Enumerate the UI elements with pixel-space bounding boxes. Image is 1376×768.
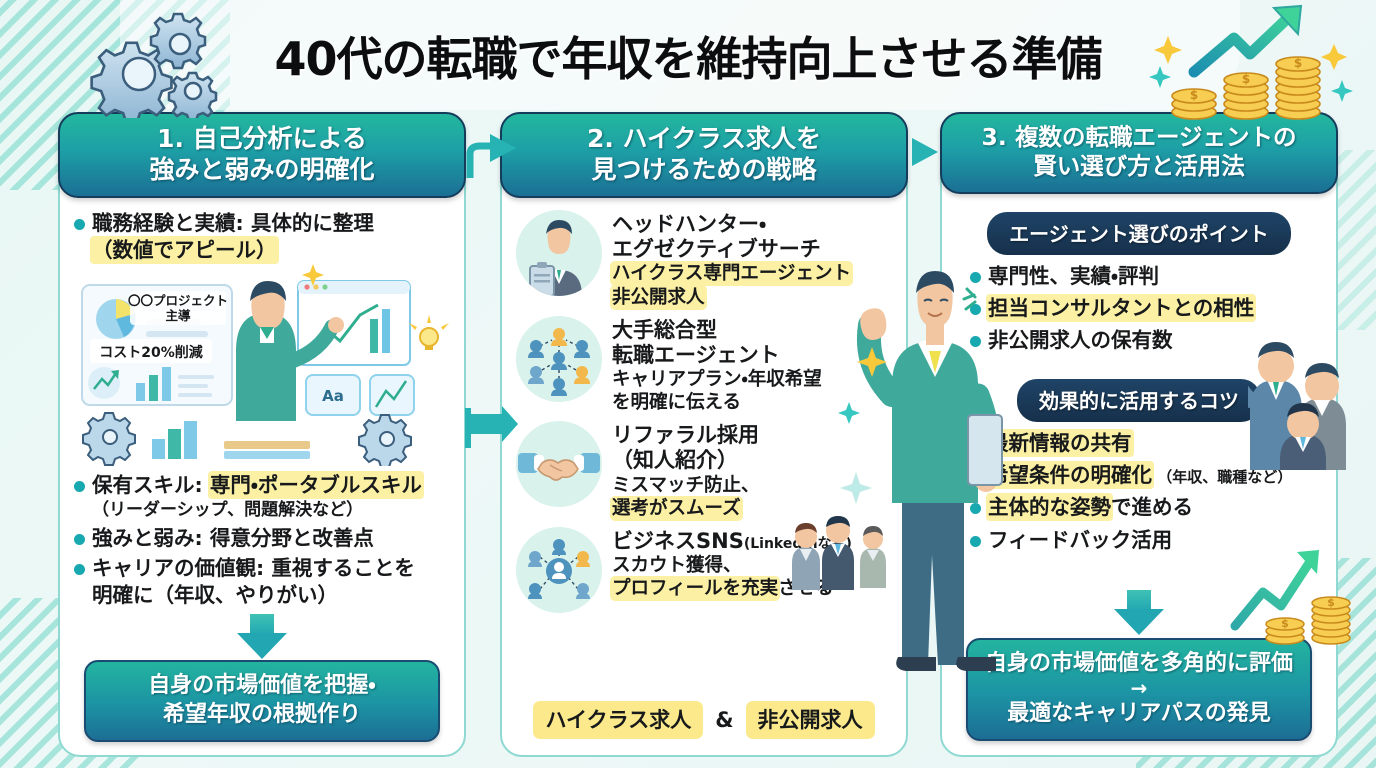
list-item: キャリアの価値観: 重視することを 明確に（年収、やりがい） — [74, 555, 450, 609]
network-people-icon — [516, 316, 602, 402]
column-2-header-line-1: 2. ハイクラス求人を — [508, 123, 900, 154]
s2-bullet-2: 希望条件の明確化 — [988, 463, 1152, 487]
item-3-sub-line-1: ミスマッチ防止、 — [612, 474, 759, 497]
item-2-title-line-2: 転職エージェント — [612, 343, 822, 368]
item-1-tag-1: ハイクラス専門エージェント — [612, 263, 851, 284]
column-3-header-line-2: 賢い選び方と活用法 — [948, 152, 1330, 181]
column-1-body: 職務経験と実績: 具体的に整理 （数値でアピール） — [60, 198, 464, 756]
item-1-title-line-2: エグゼクティブサーチ — [612, 237, 851, 262]
section-pill-agent-points: エージェント選びのポイント — [987, 212, 1291, 255]
bullet-dot-icon — [970, 304, 981, 315]
s1-bullet-1: 専門性、実績・評判 — [988, 263, 1159, 290]
item-4-sub-highlight: プロフィールを充実 — [612, 578, 778, 599]
svg-text:主導: 主導 — [165, 308, 191, 323]
columns-container: 1. 自己分析による 強みと弱みの明確化 職務経験と実績: 具体的に整理 （数値… — [0, 112, 1376, 757]
column-1-header-line-1: 1. 自己分析による — [66, 123, 458, 154]
s1-bullet-2: 担当コンサルタントとの相性 — [988, 296, 1254, 320]
bullet-dot-icon — [74, 481, 85, 492]
list-item: ヘッドハンター・ エグゼクティブサーチ ハイクラス専門エージェント 非公開求人 — [516, 210, 892, 309]
bullet-2-prefix: 保有スキル: — [92, 473, 210, 497]
s2-bullet-1: 最新情報の共有 — [988, 431, 1132, 455]
s2-bullet-3: 主体的な姿勢 — [988, 495, 1111, 519]
tag-private-jobs: 非公開求人 — [746, 701, 875, 739]
item-1-tag-2: 非公開求人 — [612, 287, 705, 308]
list-item: 担当コンサルタントとの相性 — [970, 295, 1322, 322]
list-item: フィードバック活用 — [970, 527, 1322, 554]
bullet-3-text: 強みと弱み: 得意分野と改善点 — [92, 525, 374, 552]
page-title-text: 40代の転職で年収を維持向上させる準備 — [274, 23, 1101, 89]
column-3-result-line-1: 自身の市場価値を多角的に評価 — [976, 649, 1302, 678]
column-2-header: 2. ハイクラス求人を 見つけるための戦略 — [500, 112, 908, 198]
list-item: 専門性、実績・評判 — [970, 263, 1322, 290]
item-3-title-line-2: （知人紹介） — [612, 448, 759, 473]
column-3-result-line-2: 最適なキャリアパスの発見 — [976, 699, 1302, 728]
svg-text:〇〇プロジェクト: 〇〇プロジェクト — [128, 293, 228, 308]
list-item: 最新情報の共有 — [970, 430, 1322, 457]
list-item: リファラル採用 （知人紹介） ミスマッチ防止、 選考がスムーズ — [516, 421, 892, 520]
item-4-sub-rest: させる — [778, 578, 834, 599]
usage-tips-list: 最新情報の共有 希望条件の明確化 （年収、職種など） 主体的な姿勢で進める — [956, 430, 1322, 558]
item-2-sub-line-1: キャリアプラン・年収希望 — [612, 368, 822, 391]
bullet-2-highlight: 専門・ポータブルスキル — [210, 473, 422, 497]
bullet-dot-icon — [970, 536, 981, 547]
list-item: 希望条件の明確化 （年収、職種など） — [970, 462, 1322, 489]
bullet-dot-icon — [970, 439, 981, 450]
bullet-dot-icon — [970, 336, 981, 347]
column-high-class-jobs: 2. ハイクラス求人を 見つけるための戦略 — [500, 112, 908, 757]
column-2-body: ヘッドハンター・ エグゼクティブサーチ ハイクラス専門エージェント 非公開求人 — [502, 198, 906, 755]
item-1-title-line-1: ヘッドハンター・ — [612, 212, 851, 237]
agent-points-list: 専門性、実績・評判 担当コンサルタントとの相性 非公開求人の保有数 — [956, 263, 1322, 359]
list-item: 大手総合型 転職エージェント キャリアプラン・年収希望 を明確に伝える — [516, 316, 892, 415]
item-2-title-line-1: 大手総合型 — [612, 318, 822, 343]
bullet-1-line-2: （数値でアピール） — [92, 238, 277, 262]
column-3-body: エージェント選びのポイント 専門性、実績・評判 担当コンサルタントとの相性 非公… — [942, 194, 1336, 755]
column-1-header-line-2: 強みと弱みの明確化 — [66, 154, 458, 185]
section-pill-usage-tips: 効果的に活用するコツ — [1017, 379, 1261, 422]
bullet-dot-icon — [970, 272, 981, 283]
column-agent-selection: 3. 複数の転職エージェントの 賢い選び方と活用法 エージェント選びのポイント … — [940, 112, 1338, 757]
item-2-sub-line-2: を明確に伝える — [612, 391, 822, 414]
column-2-header-line-2: 見つけるための戦略 — [508, 154, 900, 185]
s2-bullet-3-rest: で進める — [1111, 495, 1193, 519]
bullet-dot-icon — [970, 503, 981, 514]
list-item: 非公開求人の保有数 — [970, 327, 1322, 354]
list-item: ビジネスSNS(LinkedInなど) スカウト獲得、 プロフィールを充実させる — [516, 527, 892, 613]
svg-text:Aa: Aa — [322, 387, 344, 405]
bullet-dot-icon — [74, 219, 85, 230]
svg-text:コスト20%削減: コスト20%削減 — [99, 344, 203, 361]
column-self-analysis: 1. 自己分析による 強みと弱みの明確化 職務経験と実績: 具体的に整理 （数値… — [58, 112, 466, 757]
column-3-result-box: 自身の市場価値を多角的に評価 → 最適なキャリアパスの発見 — [966, 638, 1312, 741]
bullet-dot-icon — [74, 564, 85, 575]
spacer — [956, 559, 1322, 588]
spacer — [956, 359, 1322, 373]
s1-bullet-3: 非公開求人の保有数 — [988, 327, 1173, 354]
column-1-result-line-1: 自身の市場価値を把握・ — [94, 671, 430, 700]
bullet-4-line-1: キャリアの価値観: 重視することを — [92, 555, 415, 582]
tag-ampersand: & — [715, 708, 733, 732]
column-1-header: 1. 自己分析による 強みと弱みの明確化 — [58, 112, 466, 198]
column-2-tags-row: ハイクラス求人 & 非公開求人 — [516, 697, 892, 745]
bullet-1-line-1: 職務経験と実績: 具体的に整理 — [92, 210, 374, 237]
list-item: 主体的な姿勢で進める — [970, 494, 1322, 521]
item-3-sub-highlight: 選考がスムーズ — [612, 498, 741, 519]
list-item: 強みと弱み: 得意分野と改善点 — [74, 525, 450, 552]
bullet-dot-icon — [970, 471, 981, 482]
item-3-title-line-1: リファラル採用 — [612, 423, 759, 448]
page-title: 40代の転職で年収を維持向上させる準備 — [0, 12, 1376, 100]
tag-high-class: ハイクラス求人 — [533, 701, 703, 739]
item-4-title: ビジネスSNS — [612, 529, 744, 553]
column-3-result-arrow: → — [976, 678, 1302, 699]
bullet-4-line-2: 明確に（年収、やりがい） — [92, 582, 415, 609]
column-1-result-box: 自身の市場価値を把握・ 希望年収の根拠作り — [84, 660, 440, 742]
s2-bullet-2-note: （年収、職種など） — [1152, 468, 1292, 486]
item-4-sub-line-1: スカウト獲得、 — [612, 554, 852, 577]
column-1-result-line-2: 希望年収の根拠作り — [94, 700, 430, 729]
career-analysis-illustration: 〇〇プロジェクト 主導 コスト20%削減 — [74, 271, 450, 466]
list-item: 保有スキル: 専門・ポータブルスキル （リーダーシップ、問題解決など） — [74, 472, 450, 521]
bullet-2-sub: （リーダーシップ、問題解決など） — [92, 499, 422, 521]
list-item: 職務経験と実績: 具体的に整理 （数値でアピール） — [74, 210, 450, 264]
column-3-header-line-1: 3. 複数の転職エージェントの — [948, 123, 1330, 152]
headhunter-person-icon — [516, 210, 602, 296]
s2-bullet-4: フィードバック活用 — [988, 527, 1172, 554]
handshake-icon — [516, 421, 602, 507]
bullet-dot-icon — [74, 534, 85, 545]
social-network-icon — [516, 527, 602, 613]
item-4-title-suffix: (LinkedInなど) — [744, 536, 852, 552]
